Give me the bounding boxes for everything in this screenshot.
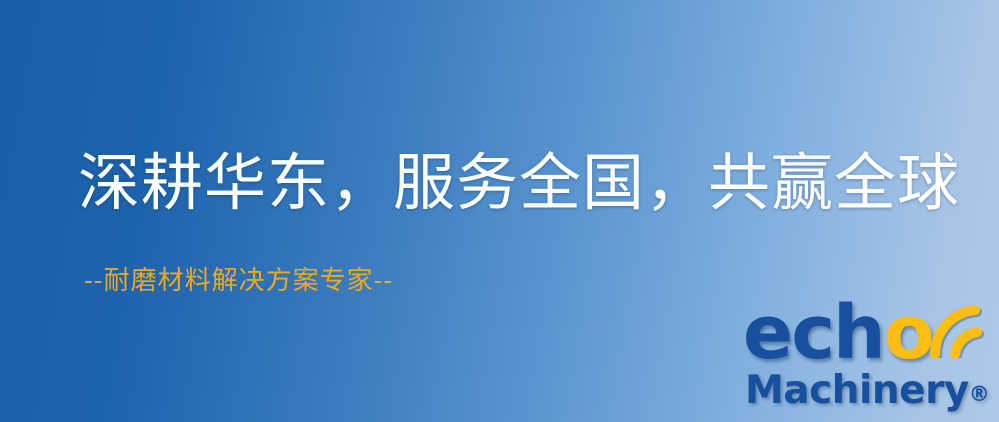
logo-text-ech: ech	[743, 298, 884, 369]
logo-wordmark: ech o	[743, 298, 934, 370]
logo-tagline: Machinery®	[745, 368, 990, 413]
page-title: 深耕华东，服务全国，共赢全球	[78, 152, 960, 214]
brand-logo[interactable]: ech o Machinery®	[737, 296, 993, 420]
logo-text-machinery: Machinery	[745, 368, 969, 413]
hero-banner: 深耕华东，服务全国，共赢全球 --耐磨材料解决方案专家-- ech o Mach…	[0, 0, 999, 422]
registered-trademark-mark: ®	[969, 382, 990, 406]
page-subtitle: --耐磨材料解决方案专家--	[84, 268, 393, 294]
logo-text-o: o	[884, 298, 934, 369]
